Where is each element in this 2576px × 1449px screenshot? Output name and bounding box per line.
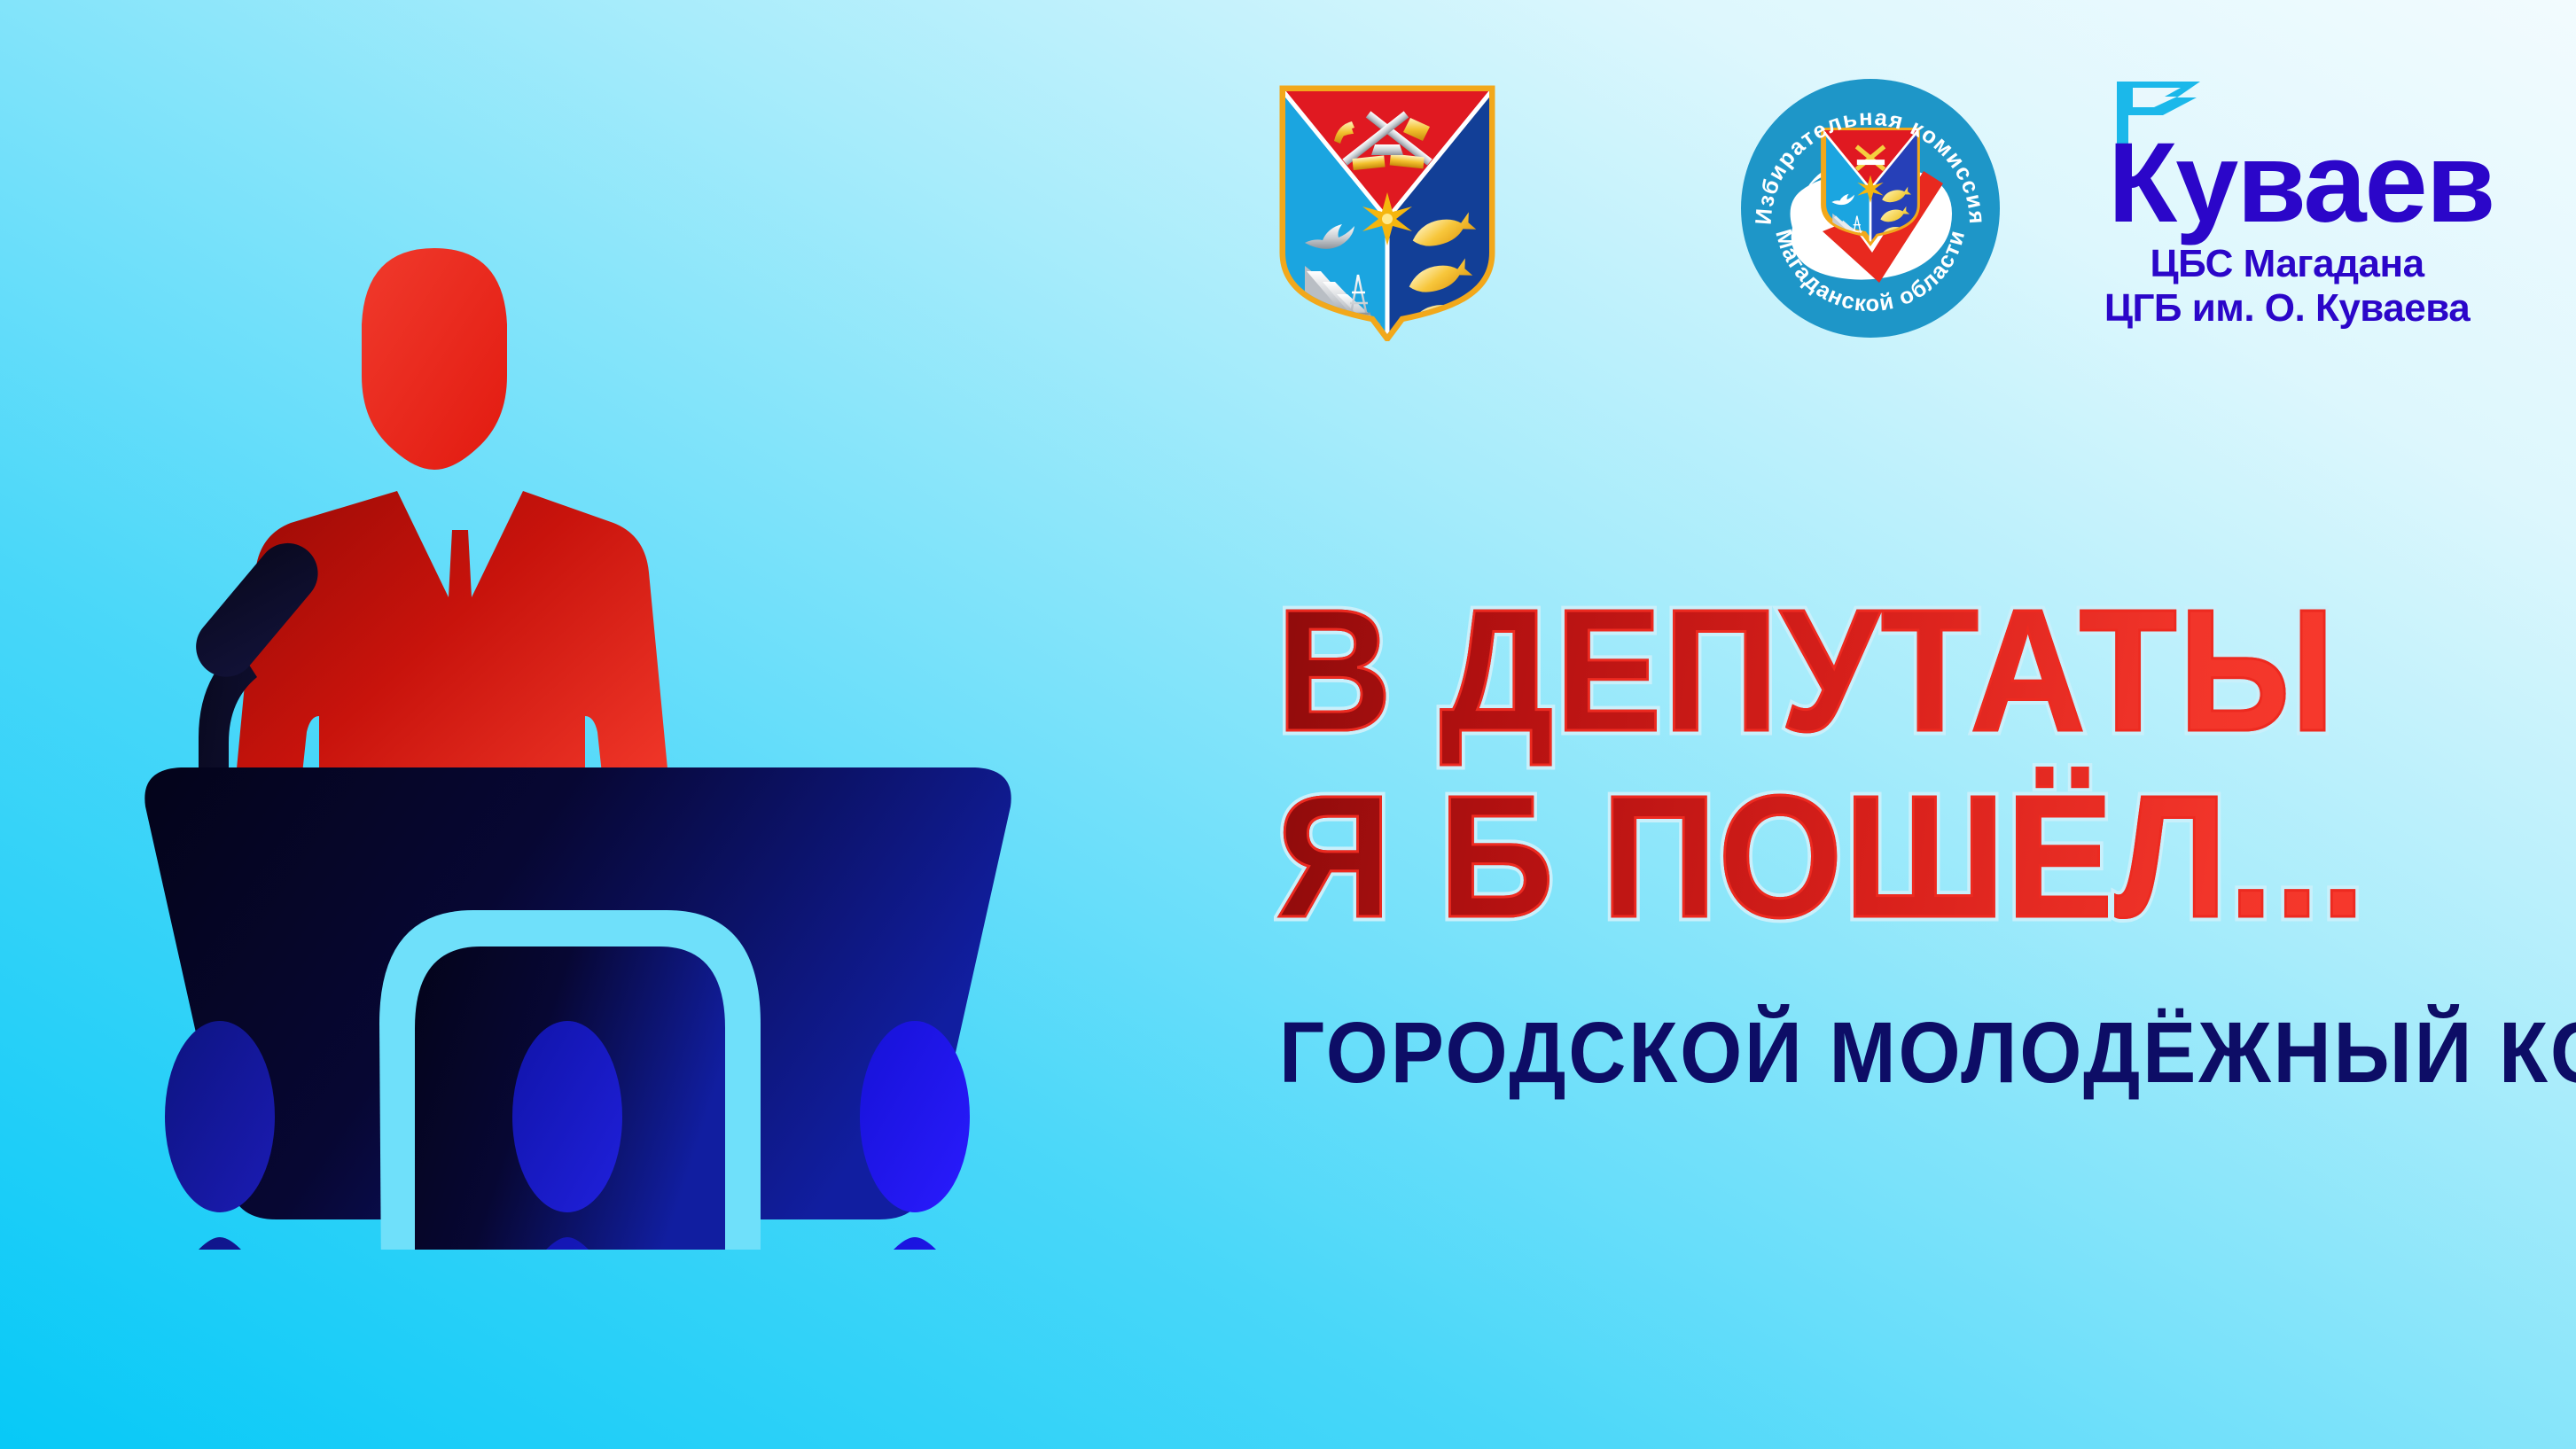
kuvaev-subtitle-line-2: ЦГБ им. О. Куваева [2083, 286, 2491, 331]
headline-block: В ДЕПУТАТЫ В ДЕПУТАТЫ Я Б ПОШЁЛ... Я Б П… [1276, 589, 2517, 939]
headline-line-2: Я Б ПОШЁЛ... Я Б ПОШЁЛ... [1276, 775, 2418, 939]
kuvaev-library-logo: Куваев ЦБС Магадана ЦГБ им. О. Куваева [2083, 80, 2491, 346]
kuvaev-wordmark: Куваев [2083, 126, 2491, 242]
subtitle: ГОРОДСКОЙ МОЛОДЁЖНЫЙ КОНКУРС [1279, 1003, 2576, 1102]
emblem-row: Избирательная комиссия Магаданской облас… [1259, 62, 2500, 346]
speaker-figure [232, 248, 672, 815]
podium-illustration [89, 230, 1197, 1250]
kuvaev-subtitle-line-1: ЦБС Магадана [2083, 242, 2491, 286]
headline-line-1: В ДЕПУТАТЫ В ДЕПУТАТЫ [1276, 589, 2418, 752]
poster-canvas: Избирательная комиссия Магаданской облас… [0, 0, 2576, 1449]
magadan-coat-of-arms-icon [1276, 84, 1498, 341]
headline-line-2-fill: Я Б ПОШЁЛ... [1276, 760, 2367, 954]
headline-line-1-fill: В ДЕПУТАТЫ [1276, 573, 2337, 767]
election-commission-emblem-icon: Избирательная комиссия Магаданской облас… [1737, 75, 2003, 341]
